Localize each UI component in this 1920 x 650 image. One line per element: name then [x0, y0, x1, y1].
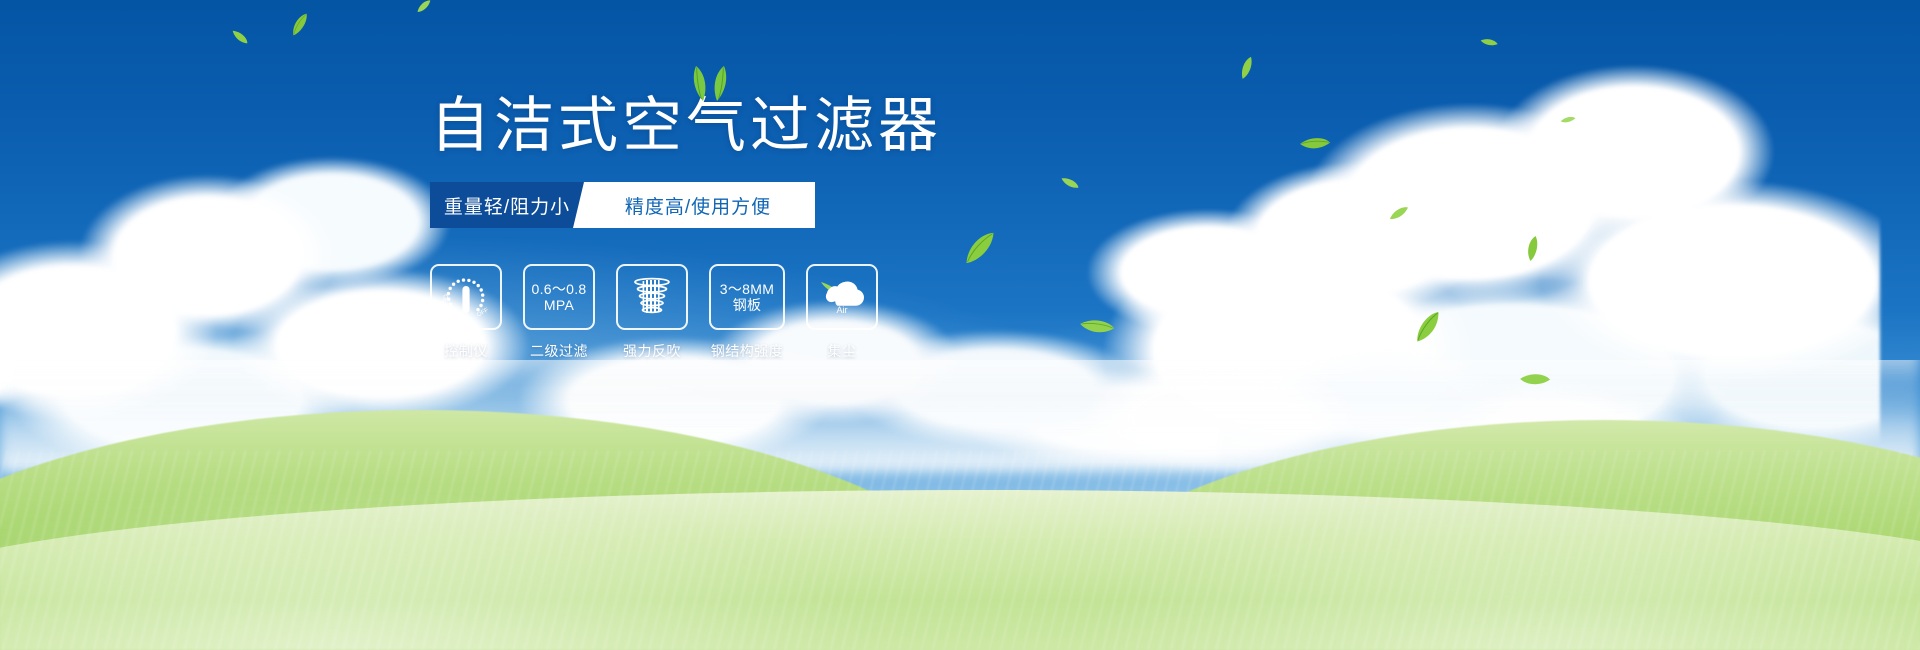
grass-horizon-glow [0, 360, 1920, 412]
product-banner: 自洁式空气过滤器 重量轻/阻力小 精度高/使用方便 [0, 0, 1920, 650]
feature-item-dust-collection: Air 集尘 [806, 264, 878, 361]
tagline-badge-secondary: 精度高/使用方便 [573, 182, 815, 228]
feature-caption: 强力反吹 [623, 341, 681, 361]
gauge-dial-icon: NO OFF [440, 274, 492, 320]
feature-list: NO OFF 控制仪 0.6～0.8 MPA 二级过滤 [430, 264, 1070, 361]
title-leaf-pair-icon [683, 64, 737, 107]
feature-value-line2: MPA [544, 297, 574, 313]
grass-sheen [0, 450, 1920, 650]
feature-item-secondary-filtration: 0.6～0.8 MPA 二级过滤 [523, 264, 595, 361]
feature-value-line1: 0.6～0.8 [531, 281, 586, 297]
feature-icon-box: Air [806, 264, 878, 330]
feature-item-steel-strength: 3～8MM 钢板 钢结构强度 [709, 264, 785, 361]
feature-item-controller: NO OFF 控制仪 [430, 264, 502, 361]
cloud-air-label: Air [837, 305, 848, 315]
feature-icon-box [616, 264, 688, 330]
feature-caption: 钢结构强度 [711, 341, 784, 361]
page-title: 自洁式空气过滤器 [430, 96, 1070, 156]
cloud-air-icon: Air [815, 277, 869, 317]
tagline-badges: 重量轻/阻力小 精度高/使用方便 [430, 182, 818, 228]
feature-icon-box: NO OFF [430, 264, 502, 330]
feature-caption: 控制仪 [444, 341, 488, 361]
feature-item-backblow: 强力反吹 [616, 264, 688, 361]
feature-value-line2: 钢板 [733, 297, 762, 313]
banner-content: 自洁式空气过滤器 重量轻/阻力小 精度高/使用方便 [430, 96, 1070, 361]
grass-field [0, 360, 1920, 650]
feature-value-line1: 3～8MM [720, 281, 774, 297]
tagline-badge-primary: 重量轻/阻力小 [430, 182, 584, 228]
filter-coil-icon [627, 274, 677, 320]
feature-icon-box: 3～8MM 钢板 [709, 264, 785, 330]
feature-caption: 二级过滤 [530, 341, 588, 361]
feature-caption: 集尘 [828, 341, 857, 361]
feature-icon-box: 0.6～0.8 MPA [523, 264, 595, 330]
